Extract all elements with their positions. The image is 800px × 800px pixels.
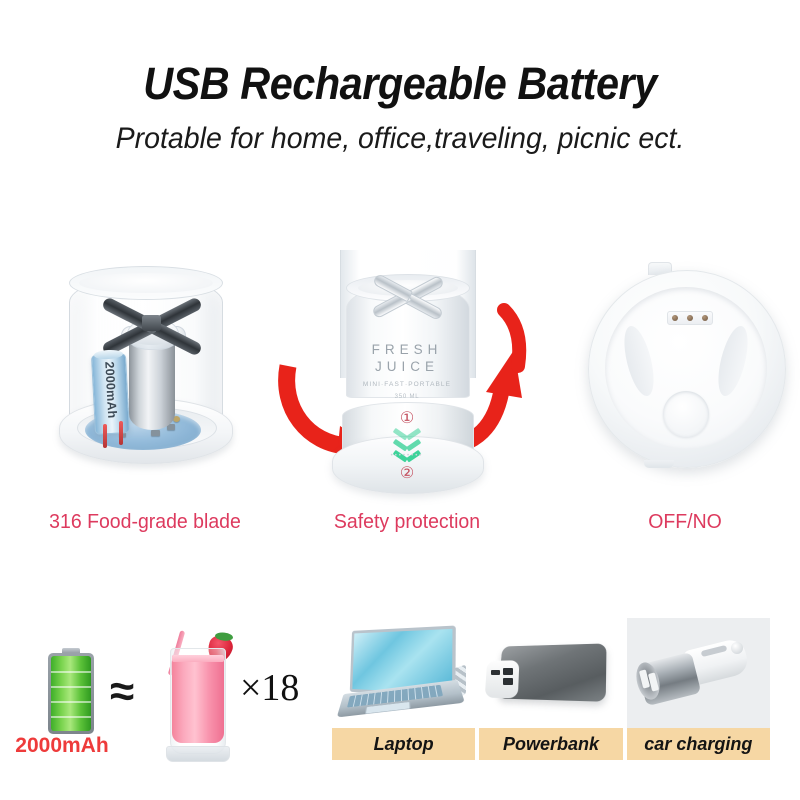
lid-top-view-illustration bbox=[560, 248, 800, 506]
powerbank-usb-port bbox=[503, 678, 513, 685]
feature-caption: 316 Food-grade blade bbox=[26, 510, 264, 534]
battery-fill bbox=[51, 656, 91, 731]
cup-count-multiplier: ×18 bbox=[240, 666, 299, 710]
charging-option-label: Powerbank bbox=[479, 728, 622, 760]
brand-line-two: JUICE bbox=[324, 359, 490, 374]
motor-barrel bbox=[129, 336, 175, 430]
charging-option-label: car charging bbox=[627, 728, 770, 760]
wire-red bbox=[103, 424, 107, 448]
smoothie-glass-illustration bbox=[164, 630, 230, 762]
laptop-image bbox=[332, 618, 475, 728]
brand-line-one: FRESH bbox=[324, 342, 490, 357]
powerbank-image bbox=[479, 618, 622, 728]
base-dot-row: •••••••• bbox=[324, 453, 490, 459]
blade-center-nut bbox=[142, 315, 161, 331]
charging-option-laptop: Laptop bbox=[332, 618, 475, 766]
charging-option-powerbank: Powerbank bbox=[479, 618, 622, 766]
chevron-icon bbox=[394, 428, 420, 439]
glass-base bbox=[166, 746, 230, 762]
led-dot-icon bbox=[672, 315, 678, 321]
led-dot-icon bbox=[702, 315, 708, 321]
approximately-equal-symbol: ≈ bbox=[110, 670, 134, 714]
step-two-marker: ② bbox=[324, 463, 490, 483]
chevron-icon bbox=[394, 439, 420, 450]
feature-caption: OFF/NO bbox=[566, 510, 800, 534]
feature-food-grade-blade: 2000mAh 316 Food-grade blade bbox=[20, 248, 270, 548]
smoothie-liquid bbox=[172, 655, 224, 743]
product-volume: 350 ML bbox=[324, 394, 490, 400]
cutaway-body: 2000mAh bbox=[55, 258, 235, 458]
battery-body bbox=[48, 653, 94, 734]
product-tagline: MINI·FAST·PORTABLE bbox=[324, 381, 490, 388]
charging-option-label: Laptop bbox=[332, 728, 475, 760]
feature-caption: Safety protection bbox=[288, 510, 526, 534]
led-dot-icon bbox=[687, 315, 693, 321]
feature-safety-protection: FRESH JUICE MINI·FAST·PORTABLE 350 ML ① … bbox=[282, 248, 532, 548]
charging-options-group: Laptop Powerbank car charging bbox=[332, 618, 770, 766]
blender-cutaway-illustration: 2000mAh bbox=[20, 248, 270, 506]
lid-groove-left bbox=[619, 323, 660, 399]
lid-groove-right bbox=[713, 323, 754, 399]
battery-capacity-text: 2000mAh bbox=[0, 734, 124, 758]
battery-equivalence-group: 2000mAh ≈ ×18 bbox=[18, 612, 318, 772]
powerbank-micro-port bbox=[491, 670, 500, 675]
battery-cell: 2000mAh bbox=[91, 353, 130, 435]
car-charger-image bbox=[627, 618, 770, 728]
car-charger-pin bbox=[731, 642, 743, 654]
battery-icon bbox=[48, 648, 94, 734]
page-subtitle: Protable for home, office,traveling, pic… bbox=[20, 122, 780, 156]
led-indicator-strip bbox=[667, 311, 713, 325]
cylinder-top-rim bbox=[69, 266, 223, 300]
battery-capacity-label: 2000mAh bbox=[102, 355, 120, 426]
lid-inner-disc bbox=[605, 287, 767, 449]
powerbank-usb-port bbox=[503, 668, 513, 675]
blender-jar: FRESH JUICE MINI·FAST·PORTABLE 350 ML ① … bbox=[324, 250, 490, 500]
charging-option-car-charging: car charging bbox=[627, 618, 770, 766]
glass-body bbox=[170, 648, 226, 754]
step-one-marker: ① bbox=[324, 408, 490, 428]
blender-lid bbox=[588, 270, 786, 468]
lid-tab-bottom bbox=[644, 460, 674, 468]
pcb-chip bbox=[151, 430, 160, 436]
feature-off-no: OFF/NO bbox=[560, 248, 800, 548]
wire-red bbox=[119, 421, 123, 445]
power-button[interactable] bbox=[663, 391, 709, 437]
page-title: USB Rechargeable Battery bbox=[32, 58, 768, 110]
safety-protection-illustration: FRESH JUICE MINI·FAST·PORTABLE 350 ML ① … bbox=[282, 248, 532, 506]
